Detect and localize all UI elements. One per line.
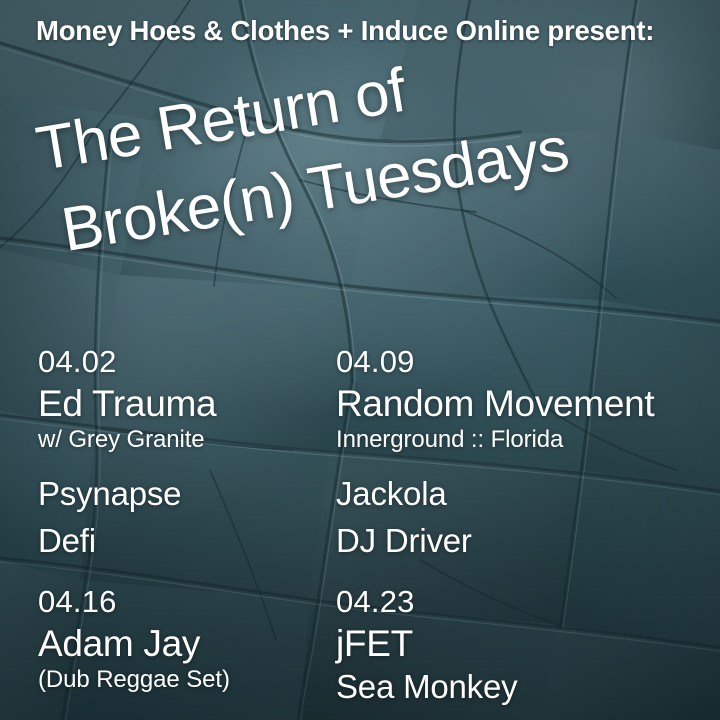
entry-subtitle: w/ Grey Granite: [38, 424, 320, 456]
lineup-grid: 04.02 Ed Trauma w/ Grey Granite Psynapse…: [0, 344, 720, 720]
entry-headliner: Adam Jay: [38, 624, 320, 665]
support-act: Sea Monkey: [336, 664, 720, 711]
entry-date: 04.16: [38, 584, 320, 621]
lineup-entry-1: 04.02 Ed Trauma w/ Grey Granite Psynapse…: [0, 344, 320, 584]
title-block: The Return of Broke(n) Tuesdays: [0, 96, 720, 326]
entry-headliner: Ed Trauma: [38, 384, 320, 425]
event-flyer: Money Hoes & Clothes + Induce Online pre…: [0, 0, 720, 720]
entry-headliner: jFET: [336, 624, 720, 665]
entry-headliner: Random Movement: [336, 384, 720, 425]
entry-support-acts: Jackola DJ Driver: [336, 462, 720, 565]
entry-date: 04.09: [336, 344, 720, 381]
lineup-entry-2: 04.09 Random Movement Innerground :: Flo…: [320, 344, 720, 584]
entry-subtitle: Innerground :: Florida: [336, 424, 720, 456]
support-act: Jackola: [336, 471, 720, 518]
entry-support-acts: Psynapse Defi: [38, 462, 320, 565]
support-act: DJ Driver: [336, 518, 720, 565]
entry-date: 04.23: [336, 584, 720, 621]
entry-date: 04.02: [38, 344, 320, 381]
support-act: Defi: [38, 518, 320, 565]
support-act: Psynapse: [38, 471, 320, 518]
lineup-entry-3: 04.16 Adam Jay (Dub Reggae Set): [0, 584, 320, 720]
entry-subtitle: (Dub Reggae Set): [38, 664, 320, 696]
lineup-entry-4: 04.23 jFET Sea Monkey: [320, 584, 720, 720]
